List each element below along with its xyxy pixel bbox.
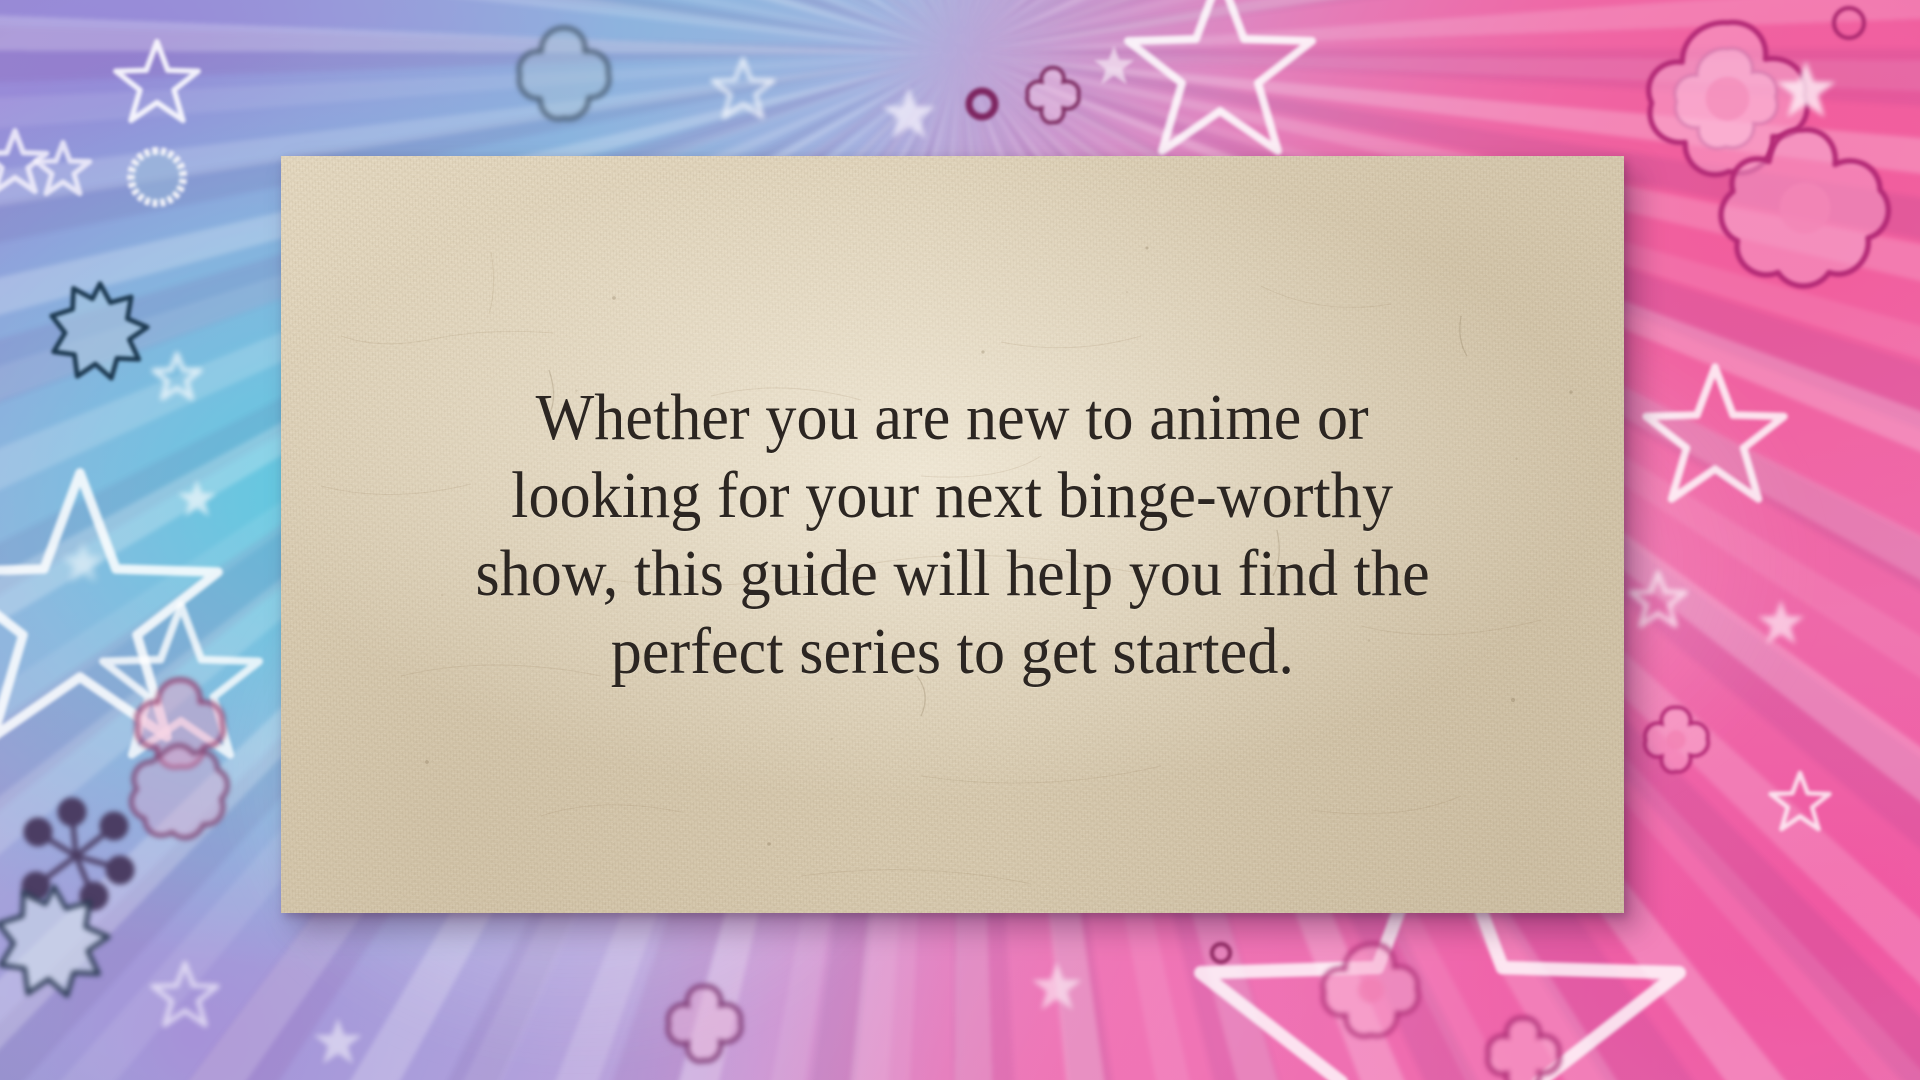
paper-card: Whether you are new to anime or looking … xyxy=(281,156,1624,913)
quote-text-block: Whether you are new to anime or looking … xyxy=(281,156,1624,913)
quote-line-2: looking for your next binge-worthy xyxy=(512,457,1394,535)
quote-line-3: show, this guide will help you find the xyxy=(475,535,1429,613)
quote-line-1: Whether you are new to anime or xyxy=(536,379,1369,457)
quote-line-4: perfect series to get started. xyxy=(611,613,1294,691)
slide-canvas: Whether you are new to anime or looking … xyxy=(0,0,1920,1080)
